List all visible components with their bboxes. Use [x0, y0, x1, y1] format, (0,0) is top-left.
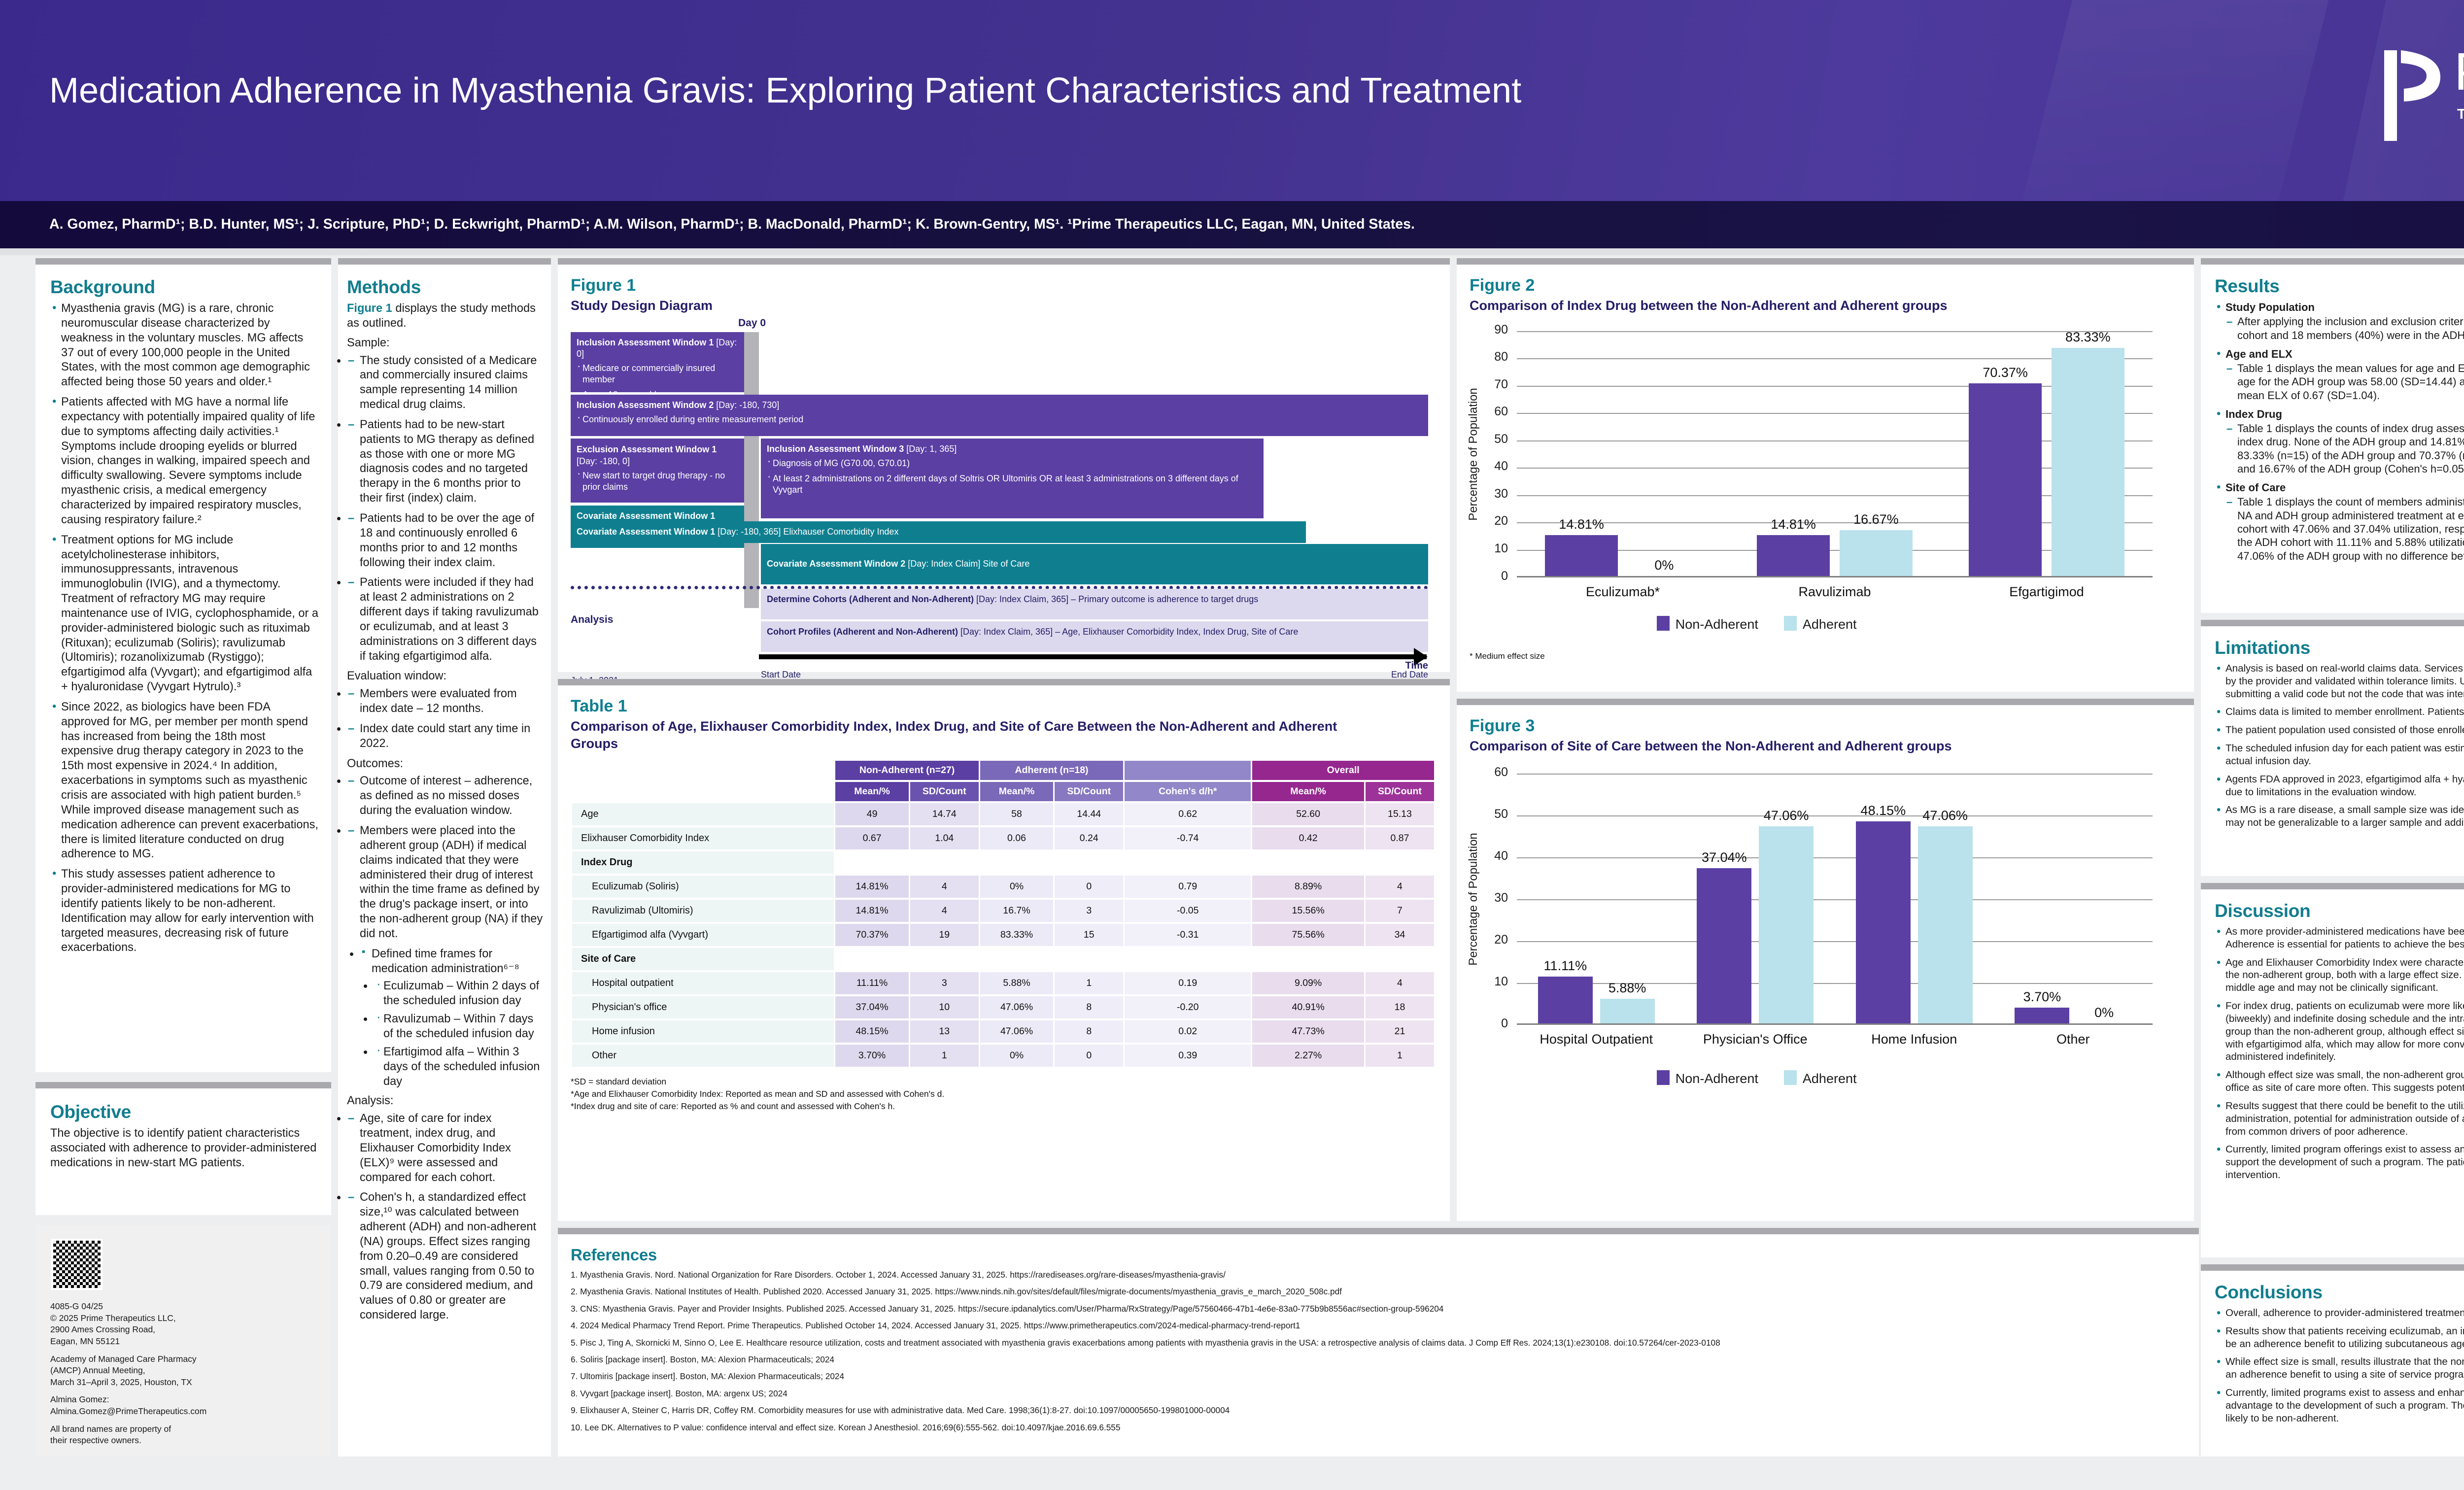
list-item: At least 2 administrations on 2 differen… — [767, 473, 1258, 496]
table-cell: 52.60 — [1252, 803, 1364, 825]
list-item: For index drug, patients on eculizumab w… — [2215, 1000, 2464, 1063]
table-cell: -0.74 — [1125, 827, 1251, 849]
table-cell: -0.20 — [1125, 996, 1251, 1018]
cohort-profiles-rest: [Day: Index Claim, 365] – Age, Elixhause… — [960, 627, 1298, 637]
figure-2-title: Comparison of Index Drug between the Non… — [1470, 297, 2181, 314]
results-subheading: Age and ELX — [2225, 347, 2464, 361]
bar-value-label: 83.33% — [2043, 330, 2133, 345]
list-item: Ravulizumab – Within 7 days of the sched… — [374, 1012, 543, 1042]
col-overall-sd: SD/Count — [1366, 782, 1434, 801]
timeline-arrow-icon — [759, 654, 1427, 659]
list-item: Eculizumab – Within 2 days of the schedu… — [374, 979, 543, 1009]
methods-sample-label: Sample: — [347, 336, 543, 351]
list-item: Diagnosis of MG (G70.00, G70.01) — [767, 458, 1258, 469]
bar — [1545, 535, 1618, 576]
section-limitations: Limitations Analysis is based on real-wo… — [2201, 620, 2464, 876]
meeting-line-2: (AMCP) Annual Meeting, — [50, 1365, 145, 1375]
gridline — [1517, 815, 2153, 816]
bar-value-label: 14.81% — [1748, 517, 1839, 532]
table-cell: 47.06% — [980, 1020, 1053, 1043]
list-item: This study assesses patient adherence to… — [50, 867, 318, 955]
determine-cohorts-rest: [Day: Index Claim, 365] – Primary outcom… — [976, 594, 1258, 604]
list-item: Currently, limited program offerings exi… — [2215, 1143, 2464, 1181]
legend-swatch — [1657, 1070, 1670, 1085]
list-item: New start to target drug therapy - no pr… — [577, 470, 738, 493]
discussion-heading: Discussion — [2215, 901, 2464, 921]
table-sub-header-row: Mean/% SD/Count Mean/% SD/Count Cohen's … — [572, 782, 1434, 801]
box-title: Inclusion Assessment Window 2 — [577, 400, 716, 410]
y-axis-tick: 30 — [1478, 487, 1508, 501]
list-item: Results suggest that there could be bene… — [2215, 1100, 2464, 1138]
legend-swatch — [1657, 616, 1670, 631]
list-item: Members were placed into the adherent gr… — [347, 824, 543, 942]
methods-timeframe-list: Eculizumab – Within 2 days of the schedu… — [374, 979, 543, 1089]
list-item: Members were evaluated from index date –… — [347, 687, 543, 716]
results-subheading: Index Drug — [2225, 407, 2464, 421]
list-item: Analysis is based on real-world claims d… — [2215, 662, 2464, 700]
chart-legend: Non-AdherentAdherent — [1657, 1070, 1857, 1086]
footnote: *Index drug and site of care: Reported a… — [571, 1100, 1437, 1113]
y-axis-tick: 40 — [1478, 459, 1508, 474]
figure-1-title: Study Design Diagram — [571, 297, 1437, 314]
table-cell: 4 — [910, 900, 979, 922]
plot-area — [1517, 331, 2153, 577]
determine-cohorts-title: Determine Cohorts (Adherent and Non-Adhe… — [767, 594, 976, 604]
table-cell: 0.67 — [835, 827, 908, 849]
table-cell: 8.89% — [1252, 876, 1364, 898]
poster-header: Medication Adherence in Myasthenia Gravi… — [0, 0, 2464, 201]
gridline — [1517, 857, 2153, 858]
table-cell: 0.39 — [1125, 1045, 1251, 1067]
table-cell: 0.42 — [1252, 827, 1364, 849]
table-cell: 47.73% — [1252, 1020, 1364, 1043]
panel-top-bar — [2201, 1264, 2464, 1271]
list-item: Claims data is limited to member enrollm… — [2215, 706, 2464, 718]
meta-text: 4085-G 04/25 © 2025 Prime Therapeutics L… — [50, 1301, 318, 1447]
inclusion-window-1-box: Inclusion Assessment Window 1 [Day: 0] M… — [571, 332, 744, 392]
meeting-line-1: Academy of Managed Care Pharmacy — [50, 1354, 197, 1364]
table-cell: 1 — [910, 1045, 979, 1067]
legend-item: Adherent — [1784, 1070, 1857, 1086]
covariate-2-rest: [Day: Index Claim] Site of Care — [908, 559, 1029, 569]
bar — [1538, 977, 1593, 1023]
section-meta: 4085-G 04/25 © 2025 Prime Therapeutics L… — [35, 1225, 331, 1456]
table-1-number: Table 1 — [571, 697, 1437, 716]
list-item: The patient population used consisted of… — [2215, 724, 2464, 737]
figure-2-footnote: * Medium effect size — [1470, 651, 1545, 661]
table-footnotes: *SD = standard deviation *Age and Elixha… — [571, 1076, 1437, 1113]
col-group-non-adherent: Non-Adherent (n=27) — [835, 761, 978, 780]
list-item: 4. 2024 Medical Pharmacy Trend Report. P… — [571, 1320, 2186, 1331]
table-cell: 58 — [980, 803, 1053, 825]
list-item: Myasthenia gravis (MG) is a rare, chroni… — [50, 302, 318, 390]
table-cell: 14.81% — [835, 876, 908, 898]
references-heading: References — [571, 1246, 2186, 1264]
bar-value-label: 5.88% — [1591, 981, 1664, 996]
contact-email[interactable]: Almina.Gomez@PrimeTherapeutics.com — [50, 1406, 206, 1416]
legend-swatch — [1784, 616, 1797, 631]
list-item: 1. Myasthenia Gravis. Nord. National Org… — [571, 1269, 2186, 1281]
meeting-line-3: March 31–April 3, 2025, Houston, TX — [50, 1377, 192, 1387]
table-cell: 8 — [1055, 996, 1123, 1018]
list-item: 5. Pisc J, Ting A, Skornicki M, Sinno O,… — [571, 1337, 2186, 1349]
y-axis-tick: 0 — [1478, 1016, 1508, 1031]
methods-sample-list: The study consisted of a Medicare and co… — [347, 354, 543, 664]
prime-therapeutics-logo: Prime THERAPEUTICS — [2375, 44, 2464, 148]
copyright-line: © 2025 Prime Therapeutics LLC, — [50, 1313, 176, 1323]
bar — [1759, 826, 1814, 1023]
box-title: Inclusion Assessment Window 3 — [767, 444, 906, 454]
limitations-heading: Limitations — [2215, 638, 2464, 658]
methods-eval-list: Members were evaluated from index date –… — [347, 687, 543, 751]
panel-top-bar — [2201, 883, 2464, 889]
bar — [1969, 383, 2042, 576]
legend-label: Non-Adherent — [1676, 1071, 1758, 1086]
table-cell: 15.13 — [1366, 803, 1434, 825]
panel-top-bar — [558, 679, 1450, 685]
references-list: 1. Myasthenia Gravis. Nord. National Org… — [571, 1269, 2186, 1433]
row-label: Other — [572, 1045, 834, 1067]
table-cell: 40.91% — [1252, 996, 1364, 1018]
chart-legend: Non-AdherentAdherent — [1657, 616, 1857, 632]
methods-intro: Figure 1 displays the study methods as o… — [347, 302, 543, 331]
table-cell: 14.81% — [835, 900, 908, 922]
list-item: Age, site of care for index treatment, i… — [347, 1112, 543, 1185]
y-axis-tick: 50 — [1478, 807, 1508, 821]
methods-figure-ref: Figure 1 — [347, 302, 392, 315]
row-label: Eculizumab (Soliris) — [572, 876, 834, 898]
table-row: Home infusion48.15%1347.06%80.0247.73%21 — [572, 1020, 1434, 1043]
list-item: Treatment options for MG include acetylc… — [50, 533, 318, 695]
box-range: [Day: 1, 365] — [906, 444, 957, 454]
table-cell: 0% — [980, 1045, 1053, 1067]
table-group-header-row: Non-Adherent (n=27) Adherent (n=18) Over… — [572, 761, 1434, 780]
table-1-title: Comparison of Age, Elixhauser Comorbidit… — [571, 718, 1379, 752]
results-subheading: Study Population — [2225, 301, 2464, 314]
legend-label: Adherent — [1803, 617, 1857, 632]
x-axis-category: Hospital Outpatient — [1517, 1032, 1676, 1047]
section-table-1: Table 1 Comparison of Age, Elixhauser Co… — [558, 679, 1450, 1221]
figure-3-chart: Percentage of Population010203040506011.… — [1470, 764, 2181, 1192]
table-cell: 2.27% — [1252, 1045, 1364, 1067]
address-line-2: Eagan, MN 55121 — [50, 1336, 120, 1346]
box-title: Exclusion Assessment Window 1 — [577, 444, 717, 454]
list-item: Index date could start any time in 2022. — [347, 722, 543, 751]
limitations-list: Analysis is based on real-world claims d… — [2215, 662, 2464, 829]
footnote: *Age and Elixhauser Comorbidity Index: R… — [571, 1088, 1437, 1100]
figure-1-number: Figure 1 — [571, 276, 1437, 295]
list-item: While effect size is small, results illu… — [2215, 1355, 2464, 1381]
table-cell: 34 — [1366, 924, 1434, 946]
day-zero-label: Day 0 — [738, 317, 766, 329]
box-title: Inclusion Assessment Window 1 — [577, 338, 716, 347]
legend-swatch — [1784, 1070, 1797, 1085]
table-row: Elixhauser Comorbidity Index0.671.040.06… — [572, 827, 1434, 849]
col-adh-sd: SD/Count — [1055, 782, 1123, 801]
covariate-window-1-elx-box: Covariate Assessment Window 1 [Day: -180… — [571, 521, 1306, 543]
table-cell: 83.33% — [980, 924, 1053, 946]
table-cell: 0 — [1055, 876, 1123, 898]
figure-3-title: Comparison of Site of Care between the N… — [1470, 738, 2181, 755]
x-axis-category: Eculizumab* — [1517, 584, 1729, 600]
study-design-diagram: Day 0 Inclusion Assessment Window 1 [Day… — [571, 318, 1428, 643]
col-group-effect — [1125, 761, 1251, 780]
x-axis-category: Efgartigimod — [1941, 584, 2153, 600]
analysis-label: Analysis — [571, 614, 613, 626]
panel-top-bar — [2201, 258, 2464, 265]
panel-top-bar — [558, 1228, 2199, 1234]
list-item: Defined time frames for medication admin… — [360, 947, 543, 977]
table-row: Site of Care — [572, 948, 1434, 970]
legend-item: Non-Adherent — [1657, 1070, 1758, 1086]
list-item: Patients had to be over the age of 18 an… — [347, 511, 543, 570]
brand-note-1: All brand names are property of — [50, 1424, 171, 1434]
table-cell: 1.04 — [910, 827, 979, 849]
bar-value-label: 11.11% — [1529, 958, 1602, 974]
methods-analysis-list: Age, site of care for index treatment, i… — [347, 1112, 543, 1323]
methods-analysis-label: Analysis: — [347, 1094, 543, 1109]
table-cell: 7 — [1366, 900, 1434, 922]
legend-item: Adherent — [1784, 616, 1857, 632]
table-cell: -0.05 — [1125, 900, 1251, 922]
bar — [2052, 348, 2124, 576]
row-label: Age — [572, 803, 834, 825]
section-references: References 1. Myasthenia Gravis. Nord. N… — [558, 1228, 2199, 1456]
table-cell: 19 — [910, 924, 979, 946]
section-conclusions: Conclusions Overall, adherence to provid… — [2201, 1264, 2464, 1456]
table-cell: 15 — [1055, 924, 1123, 946]
methods-outcomes-list: Outcome of interest – adherence, as defi… — [347, 774, 543, 941]
table-row: Efgartigimod alfa (Vyvgart)70.37%1983.33… — [572, 924, 1434, 946]
results-text: Table 1 displays the counts of index dru… — [2237, 422, 2464, 475]
section-figure-3: Figure 3 Comparison of Site of Care betw… — [1457, 699, 2194, 1221]
table-cell: 4 — [1366, 876, 1434, 898]
poster-root: Medication Adherence in Myasthenia Gravi… — [0, 0, 2464, 1490]
table-cell: 13 — [910, 1020, 979, 1043]
methods-outcomes-label: Outcomes: — [347, 757, 543, 772]
contact-name: Almina Gomez: — [50, 1394, 109, 1404]
table-body: Age4914.745814.440.6252.6015.13Elixhause… — [572, 803, 1434, 1067]
list-item: Site of Care – Table 1 displays the coun… — [2215, 481, 2464, 563]
table-row: Eculizumab (Soliris)14.81%40%00.798.89%4 — [572, 876, 1434, 898]
table-cell: 0.79 — [1125, 876, 1251, 898]
list-item: Outcome of interest – adherence, as defi… — [347, 774, 543, 818]
box-range: [Day: -180, 730] — [716, 400, 779, 410]
list-item: 2. Myasthenia Gravis. National Institute… — [571, 1286, 2186, 1297]
legend-label: Adherent — [1803, 1071, 1857, 1086]
section-figure-2: Figure 2 Comparison of Index Drug betwee… — [1457, 258, 2194, 692]
publication-code: 4085-G 04/25 — [50, 1301, 103, 1311]
qr-code-icon[interactable] — [51, 1239, 103, 1290]
results-heading: Results — [2215, 276, 2464, 297]
panel-top-bar — [1457, 258, 2194, 265]
timeline-start-label: Start Date — [761, 670, 801, 679]
gridline — [1517, 941, 2153, 942]
y-axis-tick: 0 — [1478, 569, 1508, 583]
table-cell: 8 — [1055, 1020, 1123, 1043]
table-cell: 15.56% — [1252, 900, 1364, 922]
list-item: Although effect size was small, the non-… — [2215, 1069, 2464, 1094]
day-zero-column — [744, 332, 759, 608]
table-cell: 0 — [1055, 1045, 1123, 1067]
table-cell: 4 — [910, 876, 979, 898]
list-item: Age and Elixhauser Comorbidity Index wer… — [2215, 956, 2464, 994]
list-item: 8. Vyvgart [package insert]. Boston, MA:… — [571, 1388, 2186, 1399]
table-cell: 1 — [1366, 1045, 1434, 1067]
list-item: Study Population – After applying the in… — [2215, 301, 2464, 342]
page-title: Medication Adherence in Myasthenia Gravi… — [49, 71, 2020, 110]
y-axis-tick: 30 — [1478, 891, 1508, 905]
row-spacer — [835, 851, 1434, 874]
covariate-2-title: Covariate Assessment Window 2 — [767, 559, 908, 569]
table-cell: 0.02 — [1125, 1020, 1251, 1043]
table-cell: 4 — [1366, 972, 1434, 994]
table-cell: 3.70% — [835, 1045, 908, 1067]
y-axis-tick: 10 — [1478, 975, 1508, 989]
table-cell: 0.06 — [980, 827, 1053, 849]
table-cell: 16.7% — [980, 900, 1053, 922]
gridline — [1517, 774, 2153, 775]
timeline-end-label: End Date — [1391, 670, 1428, 679]
table-cell: 9.09% — [1252, 972, 1364, 994]
list-item: Patients were included if they had at le… — [347, 576, 543, 664]
list-item: Index Drug – Table 1 displays the counts… — [2215, 407, 2464, 475]
table-cell: -0.31 — [1125, 924, 1251, 946]
panel-top-bar — [35, 1082, 331, 1088]
bar-value-label: 16.67% — [1831, 512, 1921, 527]
section-figure-1: Figure 1 Study Design Diagram Day 0 Incl… — [558, 258, 1450, 672]
list-item: 3. CNS: Myasthenia Gravis. Payer and Pro… — [571, 1303, 2186, 1315]
y-axis-tick: 50 — [1478, 432, 1508, 446]
figure-2-number: Figure 2 — [1470, 276, 2181, 295]
results-text: Table 1 displays the count of members ad… — [2237, 496, 2464, 562]
x-axis-category: Other — [1994, 1032, 2153, 1047]
footnote: *SD = standard deviation — [571, 1076, 1437, 1088]
table-cell: 0.19 — [1125, 972, 1251, 994]
list-item: 9. Elixhauser A, Steiner C, Harris DR, C… — [571, 1405, 2186, 1416]
bar — [1757, 535, 1830, 576]
legend-label: Non-Adherent — [1676, 617, 1758, 632]
row-label: Efgartigimod alfa (Vyvgart) — [572, 924, 834, 946]
row-label: Home infusion — [572, 1020, 834, 1043]
row-label: Site of Care — [572, 948, 834, 970]
methods-eval-label: Evaluation window: — [347, 669, 543, 684]
covariate-1-elx-title: Covariate Assessment Window 1 — [577, 527, 718, 537]
list-item: Since 2022, as biologics have been FDA a… — [50, 700, 318, 862]
table-row: Ravulizimab (Ultomiris)14.81%416.7%3-0.0… — [572, 900, 1434, 922]
row-label: Elixhauser Comorbidity Index — [572, 827, 834, 849]
x-axis-category: Physician's Office — [1676, 1032, 1835, 1047]
table-cell: 14.44 — [1055, 803, 1123, 825]
table-cell: 0% — [980, 876, 1053, 898]
objective-heading: Objective — [50, 1102, 318, 1122]
table-row: Age4914.745814.440.6252.6015.13 — [572, 803, 1434, 825]
discussion-list: As more provider-administered medication… — [2215, 925, 2464, 1182]
list-item: Age and ELX – Table 1 displays the mean … — [2215, 347, 2464, 402]
list-item: Patients had to be new-start patients to… — [347, 418, 543, 506]
bar — [1840, 530, 1913, 576]
table-cell: 0.62 — [1125, 803, 1251, 825]
author-list: A. Gomez, PharmD¹; B.D. Hunter, MS¹; J. … — [49, 216, 1415, 233]
address-line-1: 2900 Ames Crossing Road, — [50, 1324, 155, 1334]
conclusions-heading: Conclusions — [2215, 1282, 2464, 1303]
exclusion-window-1-box: Exclusion Assessment Window 1 [Day: -180… — [571, 439, 744, 503]
panel-top-bar — [2201, 620, 2464, 626]
col-group-adherent: Adherent (n=18) — [980, 761, 1123, 780]
background-heading: Background — [50, 277, 318, 298]
section-background: Background Myasthenia gravis (MG) is a r… — [35, 258, 331, 1072]
panel-top-bar — [1457, 699, 2194, 705]
table-cell: 75.56% — [1252, 924, 1364, 946]
col-overall-mean: Mean/% — [1252, 782, 1364, 801]
col-group-overall: Overall — [1252, 761, 1434, 780]
panel-top-bar — [558, 258, 1450, 265]
section-objective: Objective The objective is to identify p… — [35, 1082, 331, 1215]
table-cell: 5.88% — [980, 972, 1053, 994]
prime-p-mark-icon — [2375, 46, 2449, 145]
table-cell: 49 — [835, 803, 908, 825]
inclusion-window-2-box: Inclusion Assessment Window 2 [Day: -180… — [571, 395, 1428, 436]
results-subheading: Site of Care — [2225, 481, 2464, 494]
gridline — [1517, 899, 2153, 900]
covariate-1-line-1: Covariate Assessment Window 1 — [577, 510, 738, 522]
list-item: 10. Lee DK. Alternatives to P value: con… — [571, 1422, 2186, 1433]
col-adh-mean: Mean/% — [980, 782, 1053, 801]
header-separator — [0, 248, 2464, 255]
background-bullets: Myasthenia gravis (MG) is a rare, chroni… — [50, 302, 318, 955]
list-item: As MG is a rare disease, a small sample … — [2215, 804, 2464, 829]
table-cell: 14.74 — [910, 803, 979, 825]
list-item: Results show that patients receiving ecu… — [2215, 1325, 2464, 1351]
figure-2-chart: Percentage of Population0102030405060708… — [1470, 323, 2181, 668]
bar — [1918, 826, 1973, 1023]
y-axis-tick: 60 — [1478, 405, 1508, 419]
x-axis-category: Ravulizimab — [1729, 584, 1941, 600]
list-item: Patients affected with MG have a normal … — [50, 395, 318, 528]
bar-value-label: 14.81% — [1536, 517, 1627, 532]
x-axis-category: Home Infusion — [1835, 1032, 1994, 1047]
bar — [1856, 821, 1911, 1023]
author-bar: A. Gomez, PharmD¹; B.D. Hunter, MS¹; J. … — [0, 201, 2464, 248]
bar-value-label: 47.06% — [1750, 808, 1822, 823]
box-range: [Day: -180, 0] — [577, 456, 630, 466]
logo-wordmark: Prime — [2454, 40, 2464, 102]
bar — [1697, 868, 1751, 1023]
list-item: Overall, adherence to provider-administe… — [2215, 1307, 2464, 1320]
covariate-window-2-box: Covariate Assessment Window 2 [Day: Inde… — [761, 544, 1428, 584]
list-item: 6. Soliris [package insert]. Boston, MA:… — [571, 1354, 2186, 1365]
inclusion-window-3-box: Inclusion Assessment Window 3 [Day: 1, 3… — [761, 439, 1264, 518]
objective-text: The objective is to identify patient cha… — [50, 1126, 318, 1171]
list-item: Continuously enrolled during entire meas… — [577, 414, 1422, 425]
list-item: Cohen's h, a standardized effect size,¹⁰… — [347, 1190, 543, 1323]
bar — [2015, 1008, 2069, 1023]
panel-top-bar — [35, 258, 331, 265]
figure-3-number: Figure 3 — [1470, 716, 2181, 736]
bar-value-label: 47.06% — [1909, 808, 1982, 823]
determine-cohorts-box: Determine Cohorts (Adherent and Non-Adhe… — [761, 589, 1428, 619]
bar-value-label: 0% — [1619, 558, 1710, 573]
row-label: Index Drug — [572, 851, 834, 874]
row-label: Hospital outpatient — [572, 972, 834, 994]
section-methods: Methods Figure 1 displays the study meth… — [338, 258, 551, 1456]
list-item: Efartigimod alfa – Within 3 days of the … — [374, 1045, 543, 1089]
row-label: Ravulizimab (Ultomiris) — [572, 900, 834, 922]
y-axis-tick: 90 — [1478, 323, 1508, 337]
list-item: The study consisted of a Medicare and co… — [347, 354, 543, 412]
bar-value-label: 37.04% — [1688, 850, 1760, 865]
table-cell: 37.04% — [835, 996, 908, 1018]
